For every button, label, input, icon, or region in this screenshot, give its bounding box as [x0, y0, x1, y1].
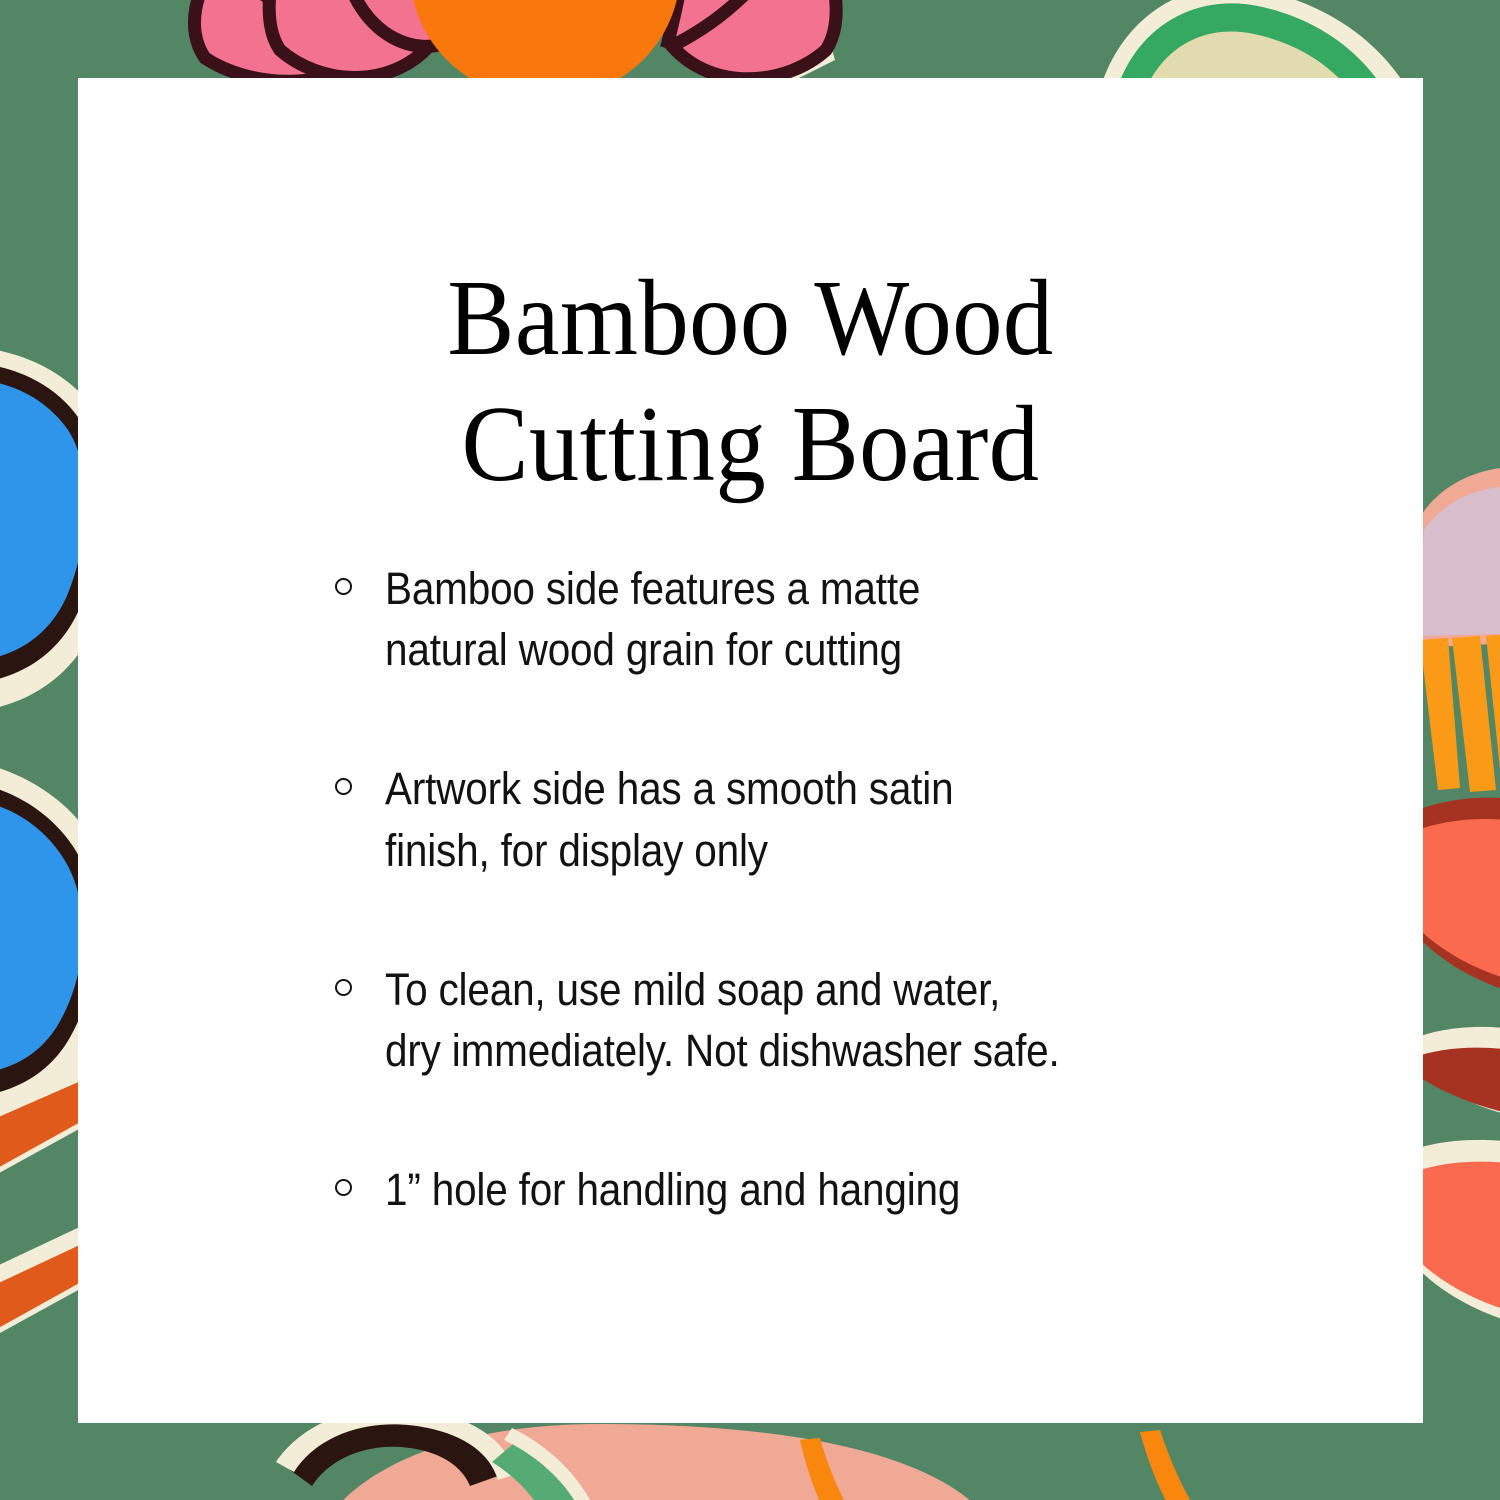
mauve-bloom-right [1412, 466, 1500, 792]
product-info-graphic: Bamboo Wood Cutting Board Bamboo side fe… [0, 0, 1500, 1500]
hollow-circle-bullet-icon [335, 979, 352, 996]
title-block: Bamboo Wood Cutting Board [78, 256, 1423, 509]
hollow-circle-bullet-icon [335, 1179, 352, 1196]
list-item: To clean, use mild soap and water, dry i… [323, 959, 1383, 1081]
page-title: Bamboo Wood Cutting Board [125, 256, 1376, 509]
list-item: Artwork side has a smooth satin finish, … [323, 758, 1383, 880]
coral-petals-right [1410, 798, 1500, 1332]
hollow-circle-bullet-icon [335, 578, 352, 595]
feature-text: Artwork side has a smooth satin finish, … [385, 758, 1283, 880]
feature-list: Bamboo side features a matte natural woo… [323, 558, 1383, 1220]
feature-text: To clean, use mild soap and water, dry i… [385, 959, 1283, 1081]
list-item: Bamboo side features a matte natural woo… [323, 558, 1383, 680]
feature-text: Bamboo side features a matte natural woo… [385, 558, 1283, 680]
hollow-circle-bullet-icon [335, 778, 352, 795]
feature-text: 1” hole for handling and hanging [385, 1159, 1283, 1220]
list-item: 1” hole for handling and hanging [323, 1159, 1383, 1220]
info-card: Bamboo Wood Cutting Board Bamboo side fe… [78, 78, 1423, 1423]
